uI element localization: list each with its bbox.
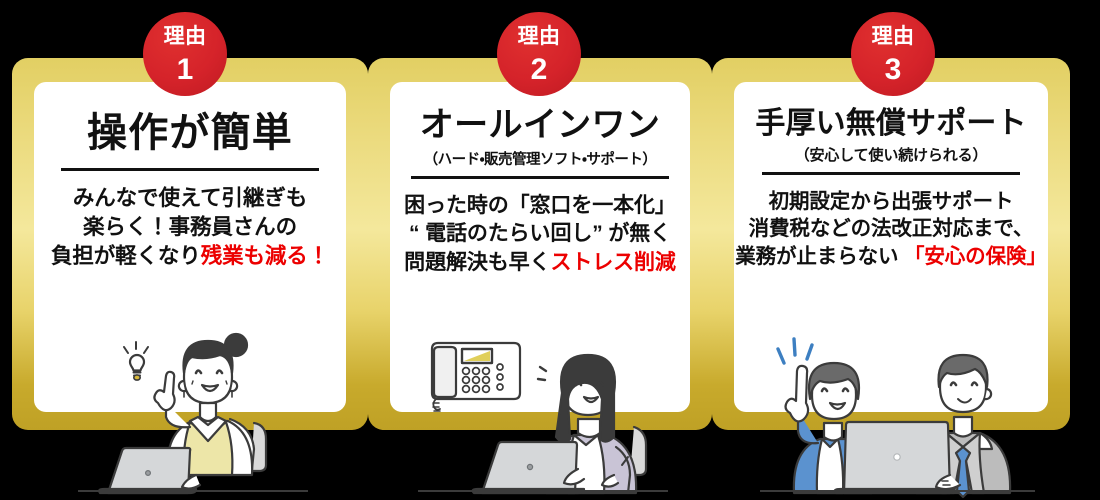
badge-3-number: 3 <box>851 47 935 85</box>
card-3-title: 手厚い無償サポート <box>734 108 1048 140</box>
card-1-line-3: 負担が軽くなり <box>51 244 201 268</box>
emphasis-lines <box>778 339 812 363</box>
card-1-accent: 残業も減る！ <box>201 244 329 268</box>
card-1-body: みんなで使えて引継ぎも 楽らく！事務員さんの 負担が軽くなり残業も減る！ <box>34 184 346 272</box>
badge-1-label: 理由 <box>143 12 227 47</box>
illustration-woman-with-lightbulb-at-laptop <box>78 315 308 500</box>
card-3-body: 初期設定から出張サポート 消費税などの法改正対応まで、 業務が止まらない 「安心… <box>734 188 1048 272</box>
card-3-divider <box>762 172 1020 175</box>
reason-badge-1: 理由 1 <box>143 12 227 96</box>
reason-badge-2: 理由 2 <box>497 12 581 96</box>
card-1-line-2: 楽らく！事務員さんの <box>83 215 297 239</box>
card-1-divider <box>61 168 319 171</box>
illustration-two-people-at-laptop <box>760 315 1035 500</box>
reason-badge-3: 理由 3 <box>851 12 935 96</box>
card-2-accent: ストレス削減 <box>550 251 675 274</box>
card-2-line-3: 問題解決も早く <box>404 251 550 274</box>
card-3-accent: 「安心の保険」 <box>904 245 1047 268</box>
badge-1-number: 1 <box>143 47 227 85</box>
card-3-line-3: 業務が止まらない <box>735 245 904 268</box>
badge-2-label: 理由 <box>497 12 581 47</box>
badge-3-label: 理由 <box>851 12 935 47</box>
card-1-title: 操作が簡単 <box>34 112 346 154</box>
card-2-subtitle: （ハード・販売管理ソフト・サポート） <box>390 148 690 169</box>
card-2-line-2: “ 電話のたらい回し” が無く <box>409 222 671 245</box>
card-3-subtitle: （安心して使い続けられる） <box>734 144 1048 165</box>
infographic-root: 操作が簡単 みんなで使えて引継ぎも 楽らく！事務員さんの 負担が軽くなり残業も減… <box>0 0 1100 500</box>
lightbulb-icon <box>124 342 148 380</box>
card-2-title: オールインワン <box>390 108 690 144</box>
card-2-body: 困った時の「窓口を一本化」 “ 電話のたらい回し” が無く 問題解決も早くストレ… <box>390 192 690 278</box>
card-3-line-2: 消費税などの法改正対応まで、 <box>749 217 1034 240</box>
card-1-line-1: みんなで使えて引継ぎも <box>73 186 307 210</box>
desk-phone-icon <box>432 343 520 411</box>
card-3-line-1: 初期設定から出張サポート <box>769 190 1014 213</box>
badge-2-number: 2 <box>497 47 581 85</box>
card-2-divider <box>411 176 669 179</box>
illustration-desk-phone-and-woman-at-laptop <box>418 315 668 500</box>
emphasis-ticks <box>538 367 546 380</box>
card-2-line-1: 困った時の「窓口を一本化」 <box>404 194 676 217</box>
